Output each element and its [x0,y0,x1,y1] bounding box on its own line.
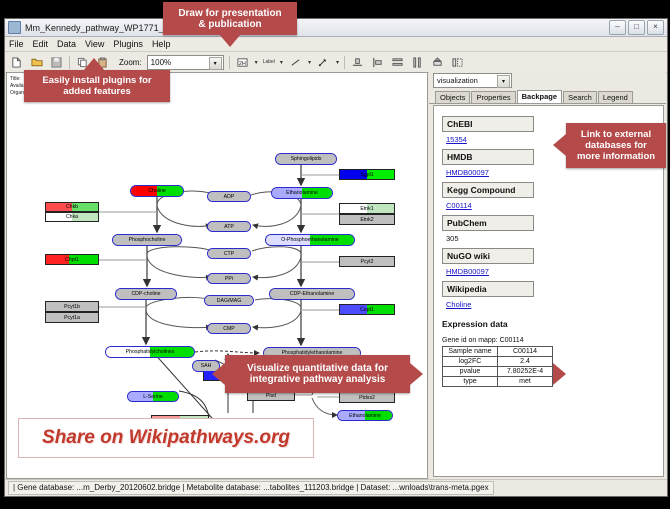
node-label: Pisd [266,393,276,399]
node-label: Ethanolamine [286,190,318,196]
db-header-pubchem: PubChem [442,215,534,231]
callout-viz-line1: Visualize quantitative data for [247,363,388,374]
metabolite-node-ethanolamine[interactable]: Ethanolamine [271,187,333,199]
node-label: CMP [223,326,235,332]
svg-text:2H: 2H [239,60,246,66]
db-link-nugo[interactable]: HMDB00097 [446,267,663,276]
callout-visualize-data: Visualize quantitative data for integrat… [225,355,410,393]
statusbar: | Gene database: ...m_Derby_20120602.bri… [5,479,667,496]
gene-node-ptdss2[interactable]: Ptdss2 [339,392,395,403]
metabolite-node-cdp-ethanolamine[interactable]: CDP-Ethanolamine [269,288,355,300]
node-label: Phosphatidylcholines [126,349,175,355]
expr-row-value: met [498,377,553,387]
expr-row-label: type [443,377,498,387]
menubar[interactable]: File Edit Data View Plugins Help [5,37,667,52]
metabolite-node-adp[interactable]: ADP [207,191,251,202]
window-controls[interactable]: – □ × [609,20,664,35]
node-label: Sgpl1 [360,172,373,178]
text-tool-icon[interactable]: 2H [235,55,250,70]
app-icon [8,21,21,34]
expr-row-value: 7.80252E-4 [498,367,553,377]
callout-draw-for-publication: Draw for presentation & publication [163,2,297,35]
gene-node-pcyt1a[interactable]: Pcyt1a [45,312,99,323]
node-label: CTP [224,251,234,257]
zoom-value: 100% [151,58,171,67]
chevron-down-icon[interactable]: ▾ [209,57,222,70]
node-label: DAG/MAG [217,298,242,304]
tab-search[interactable]: Search [563,91,597,103]
callout-links-line2: databases for [585,140,647,151]
arrow-tool-dropdown-icon[interactable]: ▾ [336,59,339,66]
screenshot-root: Mm_Kennedy_pathway_WP1771_45176.gpml – □… [0,0,670,509]
menu-view[interactable]: View [85,39,104,49]
gene-id-on-mapp: Gene id on mapp: C00114 [442,337,663,344]
close-button[interactable]: × [647,20,664,35]
menu-file[interactable]: File [9,39,24,49]
gene-node-chka[interactable]: Chka [45,212,99,222]
visualization-row[interactable]: visualization ▾ [429,72,666,89]
node-label: SAH [201,363,212,369]
expression-table: Sample nameC00114log2FC2.4pvalue7.80252E… [442,346,553,387]
share-text: Share on Wikipathways.org [42,427,290,449]
menu-data[interactable]: Data [57,39,76,49]
metabolite-node-ethanolamine-right[interactable]: Ethanolamine [337,410,393,421]
zoom-label: Zoom: [119,58,142,67]
label-tool-label[interactable]: Label [263,59,275,65]
callout-links-line3: more information [577,151,655,162]
gene-node-pcyt1b[interactable]: Pcyt1b [45,301,99,312]
callout-plugins-arrow-icon [83,58,105,71]
callout-links-arrow-right-icon [553,363,566,385]
toolbar-separator [69,56,70,69]
callout-links-arrow-icon [553,134,566,156]
table-row: Sample nameC00114 [443,347,553,357]
callout-install-plugins: Easily install plugins for added feature… [24,70,170,102]
db-header-wikipedia: Wikipedia [442,281,534,297]
db-header-kegg: Kegg Compound [442,182,534,198]
toolbar-separator-2 [229,56,230,69]
expr-row-value: C00114 [498,347,553,357]
visualization-select[interactable]: visualization ▾ [433,73,512,88]
node-label: PPi [225,276,233,282]
visualization-value: visualization [437,76,478,85]
table-row: pvalue7.80252E-4 [443,367,553,377]
zoom-select[interactable]: 100% ▾ [147,55,224,70]
metabolite-node-dagmag[interactable]: DAG/MAG [204,295,254,306]
db-link-kegg[interactable]: C00114 [446,201,663,210]
share-banner: Share on Wikipathways.org [18,418,314,458]
metabolite-node-cmp[interactable]: CMP [207,323,251,334]
node-label: Etnk2 [360,217,373,223]
node-label: CDP-choline [131,291,160,297]
metabolite-node-l-serine-left[interactable]: L-Serine [127,391,179,402]
node-label: Choline [148,188,166,194]
toolbar-separator-3 [344,56,345,69]
align-bottom-icon[interactable] [350,55,365,70]
node-label: ADP [224,194,235,200]
maximize-button[interactable]: □ [628,20,645,35]
db-header-nugo: NuGO wiki [442,248,534,264]
menu-plugins[interactable]: Plugins [113,39,143,49]
new-file-icon[interactable] [9,55,24,70]
label-tool-dropdown-icon[interactable]: ▾ [280,59,283,66]
node-label: Pcyt2 [361,259,374,265]
tab-legend[interactable]: Legend [598,91,633,103]
text-tool-dropdown-icon[interactable]: ▾ [255,59,258,66]
metabolite-node-o-phosphoethanolamine[interactable]: O-Phosphoethanolamine [265,234,355,246]
node-label: Chpt1 [65,257,79,263]
node-label: Ethanolamine [349,413,381,419]
callout-draw-line1: Draw for presentation [178,8,281,19]
distribute-vertical-icon[interactable] [390,55,405,70]
node-label: Phosphocholine [129,237,166,243]
node-label: Pcyt1b [64,304,80,310]
callout-viz-line2: integrative pathway analysis [250,374,386,385]
expr-row-label: log2FC [443,357,498,367]
stack-icon[interactable] [430,55,445,70]
node-label: O-Phosphoethanolamine [281,237,338,243]
callout-plugins-line1: Easily install plugins for [42,75,151,86]
metabolite-node-choline[interactable]: Choline [130,185,184,197]
node-label: CDP-Ethanolamine [290,291,334,297]
metabolite-node-ctp[interactable]: CTP [207,248,251,259]
callout-links-line1: Link to external [581,129,651,140]
node-label: Chka [66,214,78,220]
menu-help[interactable]: Help [152,39,171,49]
gene-node-chpt1[interactable]: Chpt1 [45,254,99,265]
line-tool-icon[interactable] [288,55,303,70]
side-tabs[interactable]: Objects Properties Backpage Search Legen… [429,89,666,104]
table-row: log2FC2.4 [443,357,553,367]
metabolite-node-ppi[interactable]: PPi [207,273,251,284]
node-label: Ptdss2 [359,395,375,401]
callout-viz-arrow-right-icon [410,363,423,385]
db-header-hmdb: HMDB [442,149,534,165]
callout-external-links: Link to external databases for more info… [566,123,666,168]
callout-draw-arrow-icon [219,34,241,47]
callout-plugins-line2: added features [63,86,131,97]
callout-viz-arrow-left-icon [212,363,225,385]
callout-draw-line2: & publication [198,19,261,30]
save-icon[interactable] [49,55,64,70]
minimize-button[interactable]: – [609,20,626,35]
chevron-down-icon[interactable]: ▾ [497,75,510,88]
group-icon[interactable] [450,55,465,70]
db-link-wikipedia[interactable]: Choline [446,300,663,309]
node-label: Pcyt1a [64,315,80,321]
db-value-pubchem: 305 [446,234,663,243]
gene-node-pcyt2[interactable]: Pcyt2 [339,256,395,267]
node-label: Sphingolipids [291,156,322,162]
gene-node-sgpl1[interactable]: Sgpl1 [339,169,395,180]
expression-data-title: Expression data [442,319,663,329]
gene-node-etnk1[interactable]: Etnk1 [339,203,395,214]
tab-objects[interactable]: Objects [435,91,470,103]
expr-row-label: Sample name [443,347,498,357]
tab-properties[interactable]: Properties [471,91,515,103]
node-label: ATP [224,224,234,230]
expr-row-value: 2.4 [498,357,553,367]
db-link-hmdb[interactable]: HMDB00097 [446,168,663,177]
node-label: Chkb [66,204,78,210]
window-titlebar: Mm_Kennedy_pathway_WP1771_45176.gpml – □… [5,19,667,37]
metabolite-node-cdp-choline[interactable]: CDP-choline [115,288,177,300]
open-folder-icon[interactable] [29,55,44,70]
statusbar-text: | Gene database: ...m_Derby_20120602.bri… [8,481,494,495]
distribute-horizontal-icon[interactable] [410,55,425,70]
node-label: Cept1 [360,307,374,313]
gene-node-cept1[interactable]: Cept1 [339,304,395,315]
line-tool-dropdown-icon[interactable]: ▾ [308,59,311,66]
node-label: Etnk1 [360,206,373,212]
gene-node-etnk2[interactable]: Etnk2 [339,214,395,225]
arrow-tool-icon[interactable] [316,55,331,70]
node-label: L-Serine [143,394,163,400]
db-header-chebi: ChEBI [442,116,534,132]
align-left-icon[interactable] [370,55,385,70]
metabolite-node-phosphatidylcholines[interactable]: Phosphatidylcholines [105,346,195,358]
tab-backpage[interactable]: Backpage [517,90,562,103]
gene-node-chkb[interactable]: Chkb [45,202,99,212]
metabolite-node-phosphocholine[interactable]: Phosphocholine [112,234,182,246]
metabolite-node-atp[interactable]: ATP [207,221,251,232]
menu-edit[interactable]: Edit [33,39,49,49]
table-row: typemet [443,377,553,387]
expr-row-label: pvalue [443,367,498,377]
metabolite-node-sphingolipids[interactable]: Sphingolipids [275,153,337,165]
